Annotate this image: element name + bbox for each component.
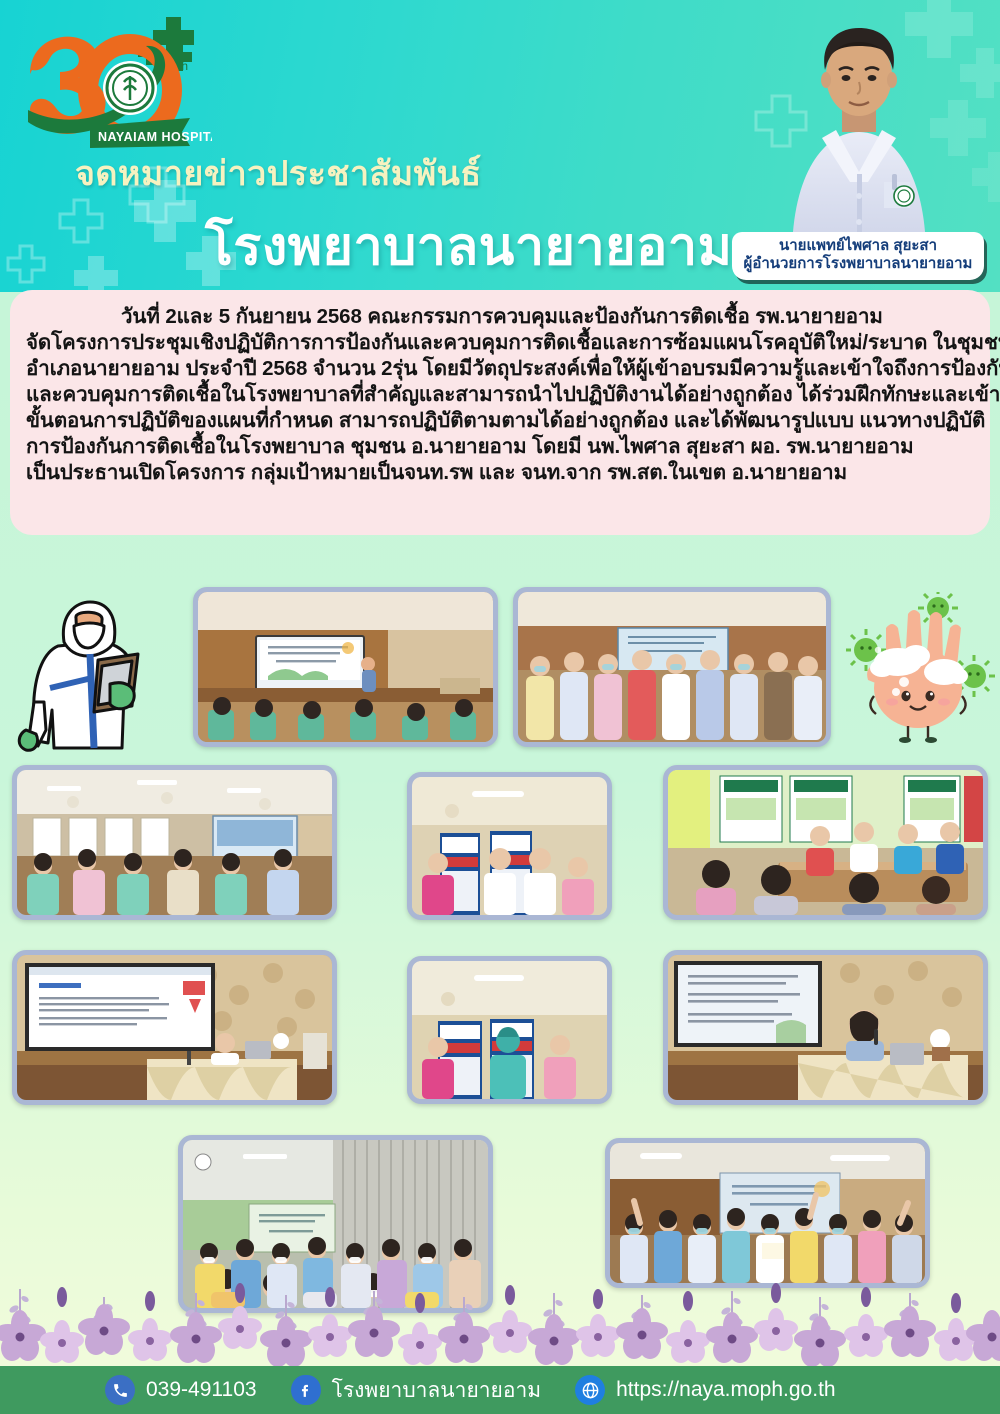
photo-frame[interactable] (513, 587, 831, 747)
footer-website-item[interactable]: https://naya.moph.go.th (575, 1375, 835, 1405)
article-line: และควบคุมการติดเชื้อในโรงพยาบาลที่สำคัญแ… (26, 382, 974, 408)
floral-border-decoration (0, 1227, 1000, 1367)
handwashing-mascot-icon (846, 592, 996, 747)
photo-frame[interactable] (663, 765, 988, 920)
footer-phone-item[interactable]: 039-491103 (105, 1375, 257, 1405)
director-title: ผู้อำนวยการโรงพยาบาลนายายอาม (738, 255, 978, 273)
footer-contact-bar: 039-491103 โรงพยาบาลนายายอาม https://nay… (0, 1366, 1000, 1414)
photo-2 (518, 592, 826, 742)
photo-frame[interactable] (193, 587, 498, 747)
footer-facebook-item[interactable]: โรงพยาบาลนายายอาม (291, 1374, 542, 1407)
article-line: เป็นประธานเปิดโครงการ กลุ่มเป้าหมายเป็นจ… (26, 460, 974, 486)
photo-frame[interactable] (663, 950, 988, 1105)
director-name-caption: นายแพทย์ไพศาล สุยะสา ผู้อำนวยการโรงพยาบา… (732, 232, 984, 280)
footer-website-text: https://naya.moph.go.th (616, 1378, 835, 1402)
ppe-suit-worker-icon (14, 598, 166, 753)
footer-facebook-text: โรงพยาบาลนายายอาม (332, 1374, 542, 1407)
photo-frame[interactable] (12, 765, 337, 920)
phone-icon (105, 1375, 135, 1405)
doctor-badge-icon (894, 186, 914, 206)
logo-ribbon-text: NAYAIAM HOSPITAL (98, 130, 212, 144)
facebook-icon (291, 1375, 321, 1405)
article-line: จัดโครงการประชุมเชิงปฏิบัติการการป้องกัน… (26, 330, 974, 356)
photo-3 (17, 770, 332, 915)
hospital-anniversary-logo: NAYAIAM HOSPITAL th (12, 14, 212, 159)
photo-5 (668, 770, 983, 915)
photo-4 (412, 777, 607, 915)
photo-8 (668, 955, 983, 1100)
doctor-eye-left (842, 75, 851, 81)
poster-root: NAYAIAM HOSPITAL th จดหมายข่าวประชาสัมพั… (0, 0, 1000, 1414)
doctor-eye-right (868, 75, 877, 81)
header-banner: NAYAIAM HOSPITAL th จดหมายข่าวประชาสัมพั… (0, 0, 1000, 292)
article-line: การป้องกันการติดเชื้อในโรงพยาบาล ชุมชน อ… (26, 434, 974, 460)
newsletter-kicker: จดหมายข่าวประชาสัมพันธ์ (75, 146, 482, 200)
photo-frame[interactable] (407, 956, 612, 1104)
article-line: วันที่ 2และ 5 กันยายน 2568 คณะกรรมการควบ… (26, 304, 974, 330)
director-portrait (764, 6, 954, 256)
photo-frame[interactable] (12, 950, 337, 1105)
photo-frame[interactable] (407, 772, 612, 920)
globe-icon (575, 1375, 605, 1405)
photo-7 (412, 961, 607, 1099)
article-line: ขั้นตอนการปฏิบัติของแผนที่กำหนด สามารถปฏ… (26, 408, 974, 434)
article-panel: วันที่ 2และ 5 กันยายน 2568 คณะกรรมการควบ… (10, 290, 990, 535)
photo-6 (17, 955, 332, 1100)
page-title: โรงพยาบาลนายายอาม (205, 204, 732, 287)
logo-ordinal-th: th (178, 59, 188, 73)
article-line: อำเภอนายายอาม ประจำปี 2568 จำนวน 2รุ่น โ… (26, 356, 974, 382)
photo-1 (198, 592, 493, 742)
footer-phone-text: 039-491103 (146, 1378, 257, 1402)
director-name: นายแพทย์ไพศาล สุยะสา (738, 237, 978, 255)
